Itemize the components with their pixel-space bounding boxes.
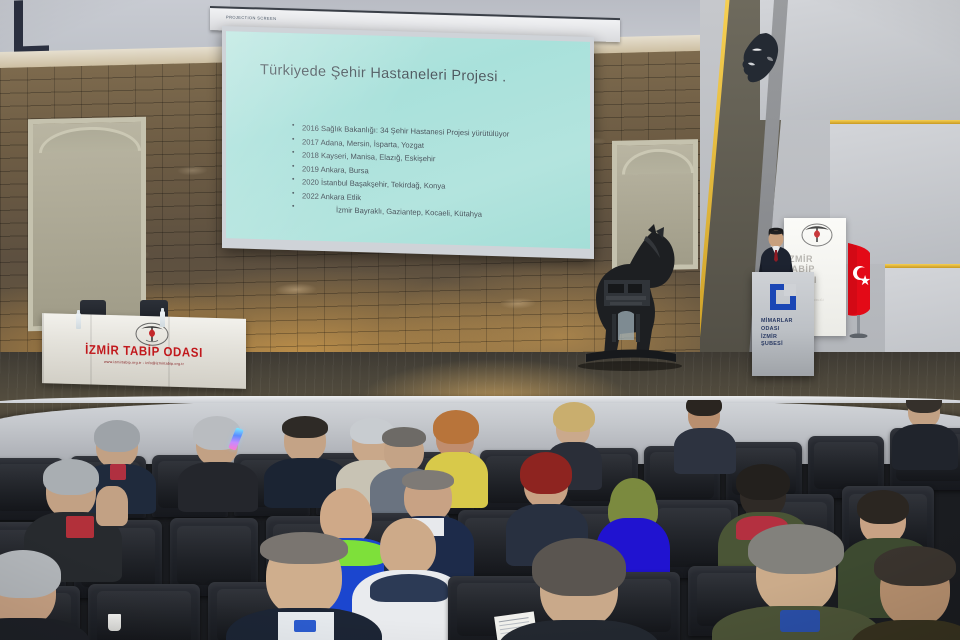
podium-line-2: ODASI (761, 326, 810, 334)
podium-line-4: ŞUBESİ (761, 341, 810, 349)
trojan-horse-sculpture (556, 222, 696, 372)
water-bottle-1 (76, 313, 81, 329)
speaker-at-podium (752, 226, 800, 278)
audience-seating-area (0, 400, 960, 640)
speakers-table-banner: İZMİR TABİP ODASI www.izmirtabip.org.tr … (42, 313, 246, 389)
architects-chamber-square-logo (770, 284, 796, 310)
podium: MİMARLAR ODASI İZMİR ŞUBESİ (752, 272, 814, 376)
auditorium-seat (88, 584, 200, 640)
water-bottle-2 (160, 311, 165, 327)
ataturk-silhouette-portrait (736, 30, 782, 86)
doorway-arch (39, 126, 140, 153)
projection-screen: Türkiyede Şehir Hastaneleri Projesi . 20… (222, 26, 594, 259)
slide-bullet-list: 2016 Sağlık Bakanlığı: 34 Şehir Hastanes… (252, 120, 580, 224)
wall-corner-mark (14, 0, 49, 56)
medical-caduceus-emblem (800, 222, 834, 248)
coffee-cup[interactable] (108, 614, 121, 631)
doorway-arch (622, 148, 695, 175)
podium-organization-text: MİMARLAR ODASI İZMİR ŞUBESİ (761, 318, 810, 349)
podium-line-1: MİMARLAR (761, 318, 810, 326)
turkish-flag (846, 243, 872, 338)
screen-housing-label: PROJECTION SCREEN (226, 14, 276, 20)
slide-title: Türkiyede Şehir Hastaneleri Projesi . (260, 62, 506, 85)
wall-panel-1 (760, 0, 960, 120)
conference-hall-photo: PROJECTION SCREEN Türkiyede Şehir Hastan… (0, 0, 960, 640)
presentation-slide: Türkiyede Şehir Hastaneleri Projesi . 20… (226, 31, 590, 249)
